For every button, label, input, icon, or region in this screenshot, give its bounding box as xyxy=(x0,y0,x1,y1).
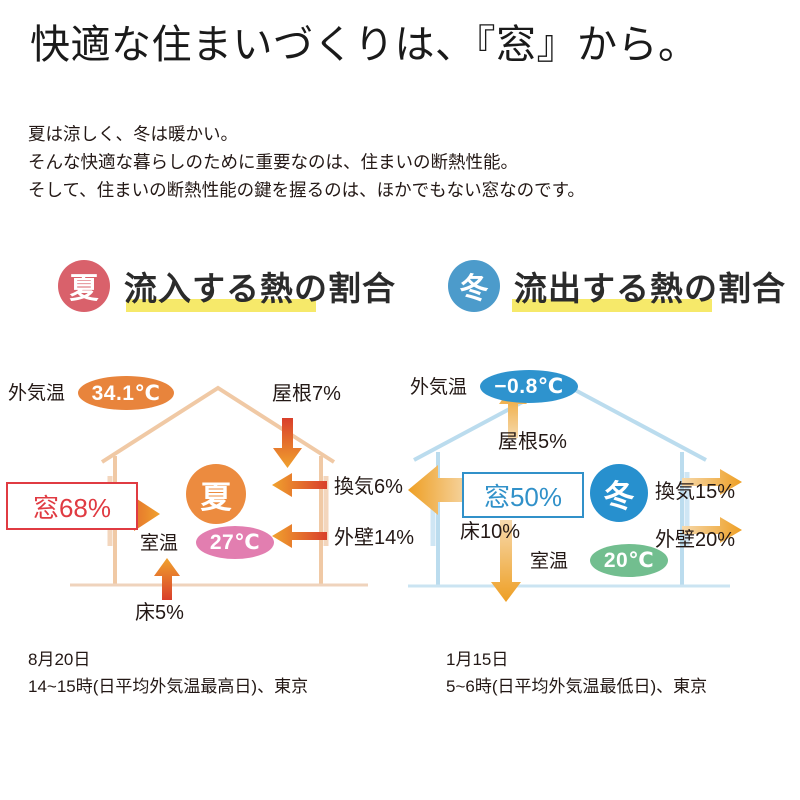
section-title-summer: 流入する熱の割合 xyxy=(124,262,396,310)
roof-label-summer: 屋根7% xyxy=(272,384,341,404)
window-value-winter: 窓50% xyxy=(462,472,584,518)
season-mark-winter: 冬 xyxy=(590,464,648,522)
outdoor-temp-value-summer: 34.1℃ xyxy=(78,376,174,410)
lead-line-2: そんな快適な暮らしのために重要なのは、住まいの断熱性能。 xyxy=(28,148,585,176)
window-value-summer: 窓68% xyxy=(6,482,138,530)
diagram-summer: 外気温 34.1℃ 屋根7% 窓68% 夏 換気6% 外壁14% 室温 27℃ … xyxy=(0,360,400,640)
vent-label-summer: 換気6% xyxy=(334,477,403,497)
caption-winter: 1月15日 5~6時(日平均外気温最低日)、東京 xyxy=(446,646,707,700)
section-title-winter: 流出する熱の割合 xyxy=(514,262,786,310)
outdoor-temp-label-winter: 外気温 xyxy=(410,378,467,397)
outdoor-temp-label-summer: 外気温 xyxy=(8,384,65,403)
infographic-page: 快適な住まいづくりは、『窓』から。 夏は涼しく、冬は暖かい。 そんな快適な暮らし… xyxy=(0,0,800,800)
section-title-wrap-winter: 流出する熱の割合 xyxy=(514,262,786,310)
caption-winter-line2: 5~6時(日平均外気温最低日)、東京 xyxy=(446,673,707,700)
indoor-temp-label-winter: 室温 xyxy=(530,552,568,571)
lead-line-3: そして、住まいの断熱性能の鍵を握るのは、ほかでもない窓なのです。 xyxy=(28,176,585,204)
outdoor-temp-value-winter: −0.8℃ xyxy=(480,370,578,403)
floor-label-winter: 床10% xyxy=(460,522,520,542)
roof-label-winter: 屋根5% xyxy=(498,432,567,452)
indoor-temp-value-winter: 20℃ xyxy=(590,544,668,577)
indoor-temp-label-summer: 室温 xyxy=(140,534,178,553)
season-mark-summer: 夏 xyxy=(186,464,246,524)
caption-summer-line2: 14~15時(日平均外気温最高日)、東京 xyxy=(28,673,308,700)
floor-label-summer: 床5% xyxy=(135,603,184,623)
page-title: 快適な住まいづくりは、『窓』から。 xyxy=(30,22,699,68)
season-badge-summer: 夏 xyxy=(58,260,110,312)
caption-summer: 8月20日 14~15時(日平均外気温最高日)、東京 xyxy=(28,646,308,700)
vent-label-winter: 換気15% xyxy=(655,482,735,502)
indoor-temp-value-summer: 27℃ xyxy=(196,526,274,559)
season-badge-winter: 冬 xyxy=(448,260,500,312)
diagram-winter: 外気温 −0.8℃ 屋根5% 窓50% 冬 換気15% 外壁20% 床10% 室… xyxy=(400,360,800,640)
lead-paragraph: 夏は涼しく、冬は暖かい。 そんな快適な暮らしのために重要なのは、住まいの断熱性能… xyxy=(28,120,585,204)
caption-winter-line1: 1月15日 xyxy=(446,646,707,673)
caption-summer-line1: 8月20日 xyxy=(28,646,308,673)
wall-label-winter: 外壁20% xyxy=(655,530,735,550)
lead-line-1: 夏は涼しく、冬は暖かい。 xyxy=(28,120,585,148)
section-title-wrap-summer: 流入する熱の割合 xyxy=(124,262,396,310)
